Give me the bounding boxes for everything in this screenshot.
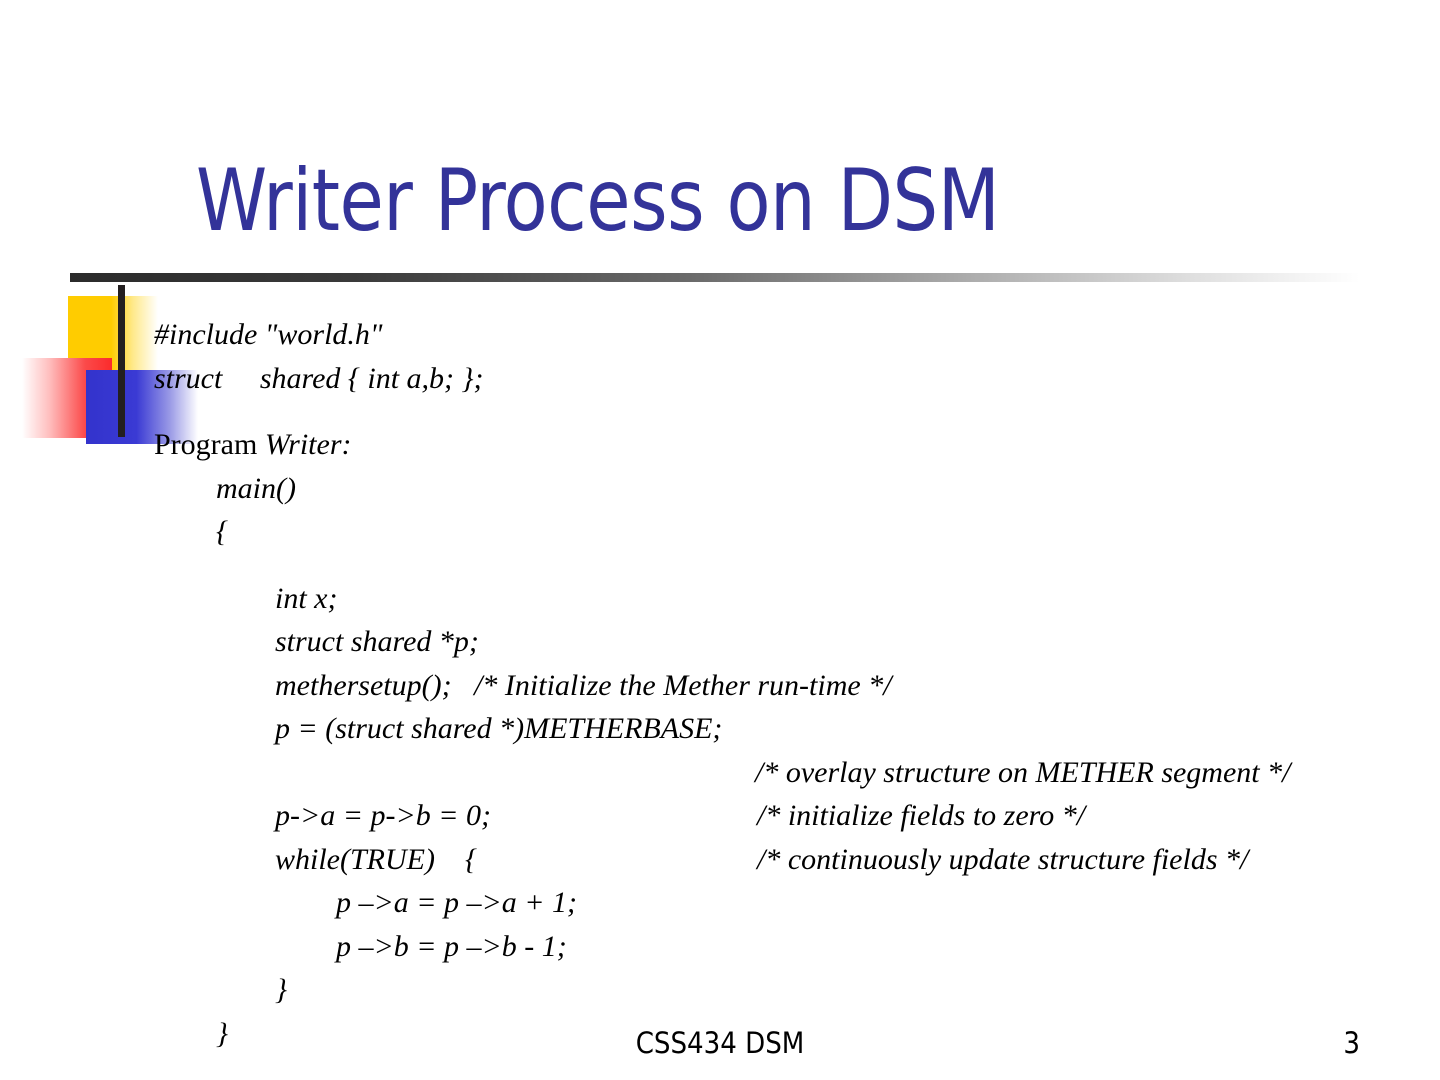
code-line: #include "world.h" [0, 318, 1440, 362]
code-line: p –>a = p –>a + 1; [0, 886, 1440, 930]
title-divider [70, 273, 1360, 282]
code-emphasis: Writer: [265, 428, 352, 461]
code-line-spacer [0, 405, 1440, 428]
code-body: #include "world.h" struct shared { int a… [0, 318, 1440, 1060]
footer-course-label: CSS434 DSM [0, 1026, 1440, 1060]
code-line-program: Program Writer: [0, 428, 1440, 472]
code-line: p->a = p->b = 0;/* initialize fields to … [0, 799, 1440, 843]
page-title: Writer Process on DSM [196, 158, 999, 246]
code-line: p = (struct shared *)METHERBASE; [0, 712, 1440, 756]
code-line: p –>b = p –>b - 1; [0, 930, 1440, 974]
code-line-spacer [0, 559, 1440, 582]
code-line: main() [0, 472, 1440, 516]
code-line: methersetup(); /* Initialize the Mether … [0, 669, 1440, 713]
slide-footer: CSS434 DSM 3 [0, 1026, 1440, 1070]
code-text: while(TRUE) { [275, 843, 477, 876]
code-comment: /* overlay structure on METHER segment *… [755, 756, 1290, 790]
code-line: { [0, 515, 1440, 559]
code-text: Program [154, 428, 265, 461]
code-comment: /* continuously update structure fields … [757, 843, 1248, 877]
code-line: while(TRUE) {/* continuously update stru… [0, 843, 1440, 887]
code-comment: /* initialize fields to zero */ [757, 799, 1085, 833]
code-line: int x; [0, 582, 1440, 626]
code-line: } [0, 973, 1440, 1017]
code-line-comment-only: /* overlay structure on METHER segment *… [0, 756, 1440, 800]
code-line: struct shared { int a,b; }; [0, 362, 1440, 406]
footer-page-number: 3 [1343, 1026, 1360, 1060]
code-line: struct shared *p; [0, 625, 1440, 669]
code-text: p->a = p->b = 0; [275, 799, 491, 832]
